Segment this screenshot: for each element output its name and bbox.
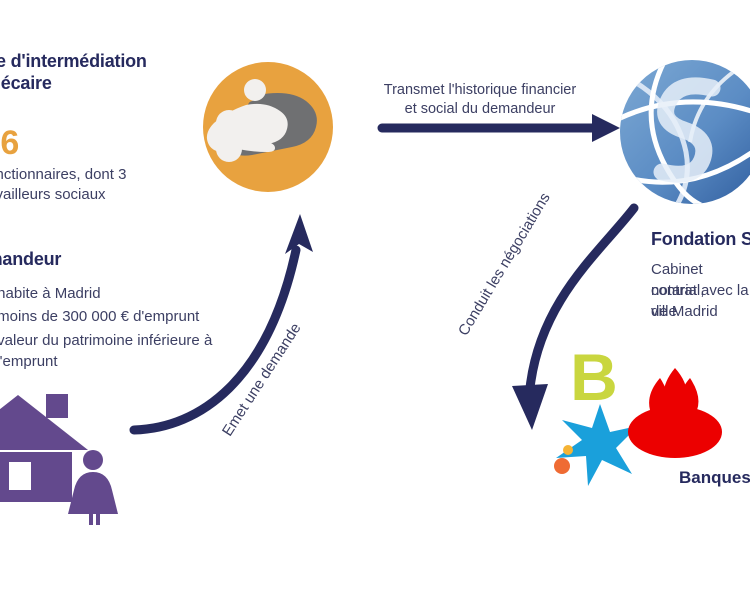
diagram-canvas: Agence d'intermédiation hypothécaire x 6…: [0, 0, 750, 600]
svg-text:B: B: [570, 340, 618, 414]
caixabank-logo: [556, 404, 638, 486]
bbva-logo: B: [570, 340, 618, 414]
santander-logo: [628, 368, 722, 458]
banks-label: Banques: [679, 468, 750, 488]
bank-logos: B: [0, 0, 750, 600]
caixabank-dot-yellow: [563, 445, 573, 455]
caixabank-dot-orange: [554, 458, 570, 474]
